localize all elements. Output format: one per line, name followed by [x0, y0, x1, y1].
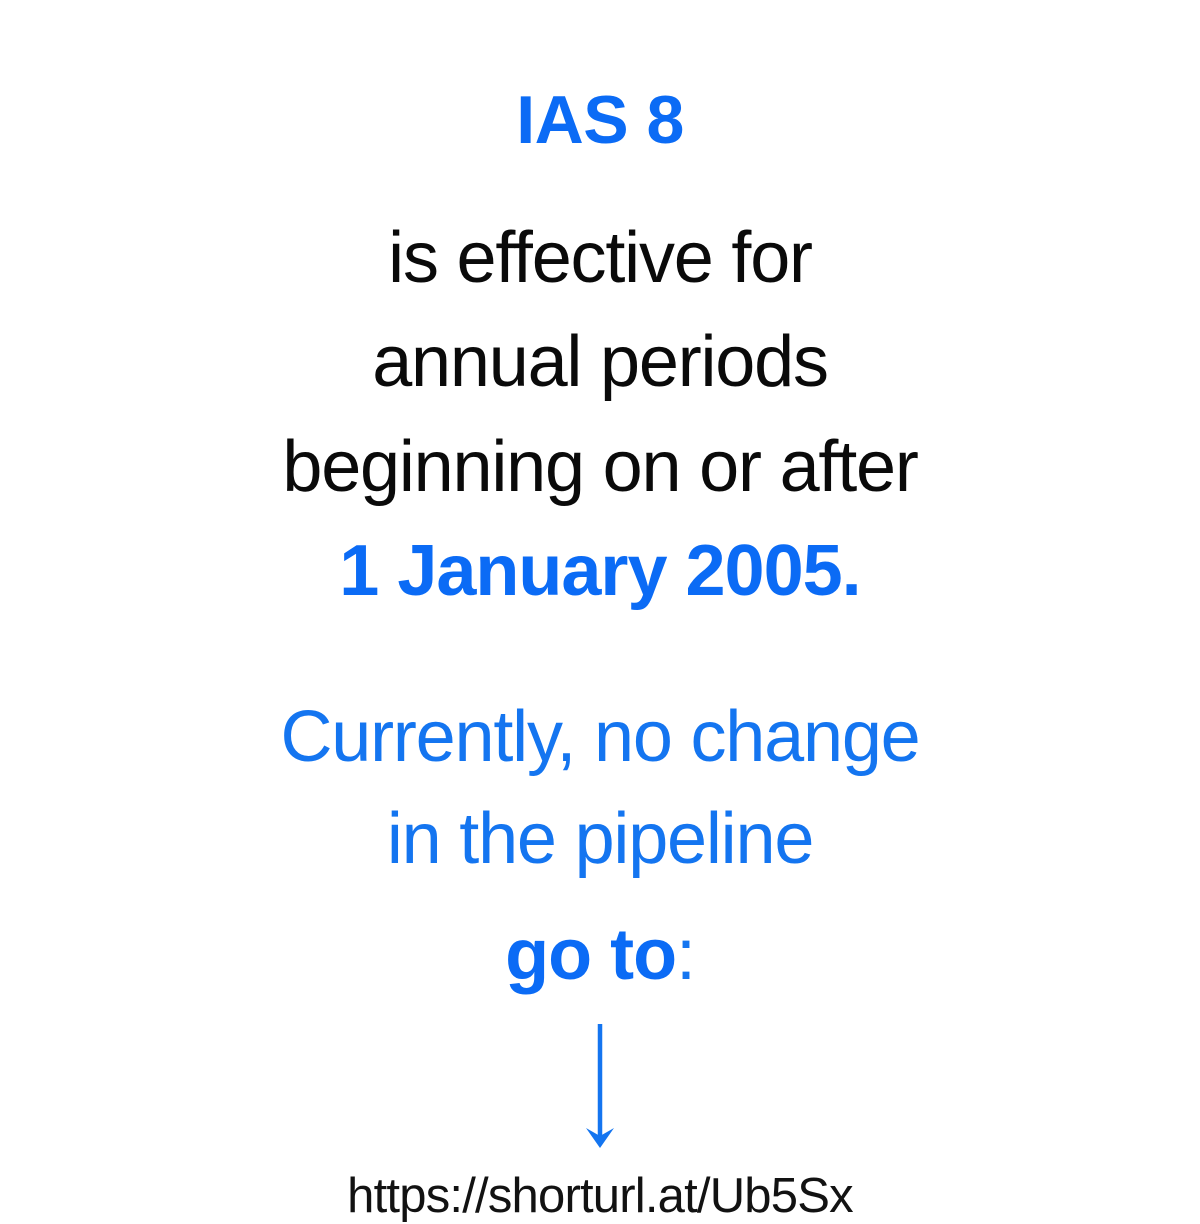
page-title: IAS 8	[516, 86, 684, 154]
note-block: Currently, no change in the pipeline go …	[80, 686, 1120, 1007]
statement-block: is effective for annual periods beginnin…	[100, 206, 1100, 624]
note-line-1: Currently, no change	[80, 686, 1120, 788]
statement-period: .	[842, 531, 861, 611]
go-to-colon: :	[676, 915, 695, 995]
statement-line-1: is effective for	[100, 206, 1100, 310]
go-to-label: go to	[505, 915, 676, 995]
arrow-down-icon	[570, 1024, 630, 1152]
statement-line-3: beginning on or after	[100, 415, 1100, 519]
statement-line-4: 1 January 2005.	[100, 519, 1100, 623]
poster-canvas: IAS 8 is effective for annual periods be…	[0, 0, 1200, 1200]
arrow-down-container	[570, 1024, 630, 1152]
short-url-text[interactable]: https://shorturl.at/Ub5Sx	[347, 1170, 853, 1224]
call-to-action-line: go to:	[80, 904, 1120, 1006]
note-line-2: in the pipeline	[80, 788, 1120, 890]
statement-line-2: annual periods	[100, 310, 1100, 414]
effective-date-highlight: 1 January 2005	[339, 531, 841, 611]
